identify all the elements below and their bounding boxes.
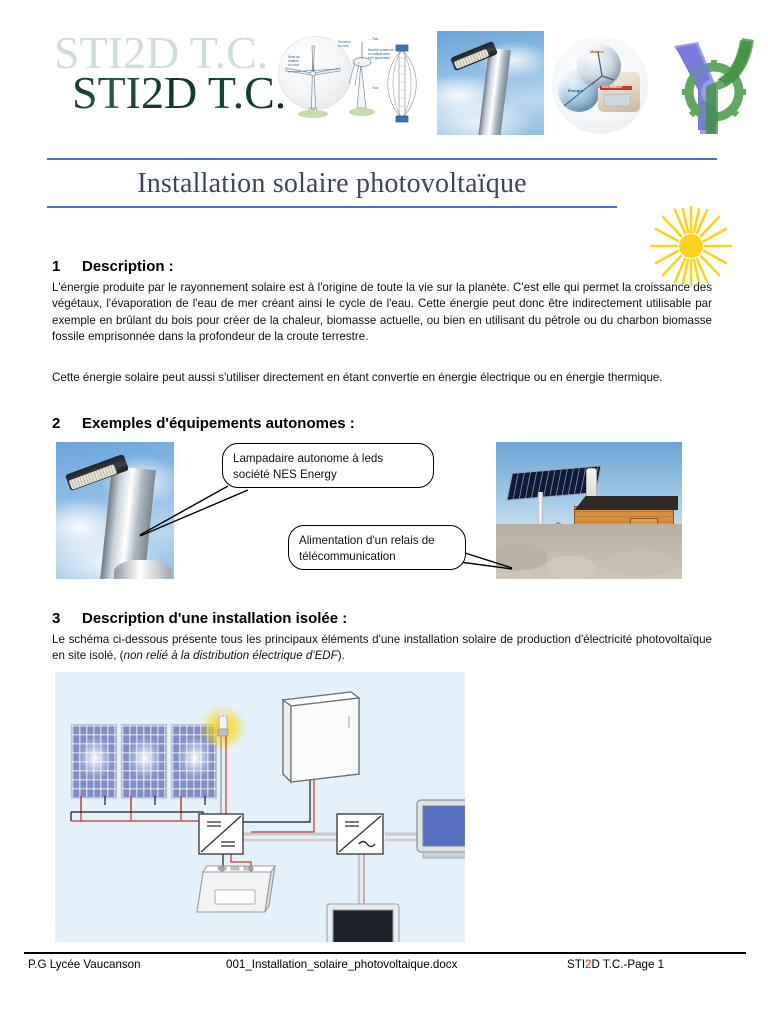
footer-author: P.G Lycée Vaucanson <box>28 958 141 971</box>
section-3-text-tail: ). <box>338 649 345 662</box>
document-page: STI2D T.C. STI2D T.C. <box>0 0 768 1024</box>
television <box>417 800 465 858</box>
turbine-label-direction-vent: Direction du vent <box>338 40 351 48</box>
turbine-label-tour: ← Tour <box>368 86 378 90</box>
section-3-text-italic: non relié à la distribution électrique d… <box>124 649 338 662</box>
solar-cabin-photo <box>496 442 682 579</box>
relais-callout: Alimentation d'un relais de télécommunic… <box>288 525 466 570</box>
streetlamp-photo <box>56 442 174 579</box>
section-1-number: 1 <box>52 258 82 275</box>
dc-ac-inverter <box>337 814 383 854</box>
lamp-glow <box>200 705 246 751</box>
heading-section-3: 3Description d'une installation isolée : <box>52 610 347 627</box>
footer-divider <box>24 952 746 954</box>
footer-prefix: STI <box>567 958 585 971</box>
heading-section-2: 2Exemples d'équipements autonomes : <box>52 415 355 432</box>
page-title: Installation solaire photovoltaïque <box>47 160 617 206</box>
section-3-title: Description d'une installation isolée : <box>82 610 347 627</box>
footer-suffix: D T.C.-Page 1 <box>592 958 665 971</box>
turbine-label-nacelle: Nacelle contenant le multiplicateur et l… <box>368 48 394 60</box>
section-1-paragraph-2: Cette énergie solaire peut aussi s'utili… <box>52 370 712 386</box>
sun-icon <box>645 203 737 289</box>
installation-schema <box>55 672 465 942</box>
lamp-pole-collar <box>114 560 172 579</box>
turbine-label-sens-rotation: Sens de rotation du rotor <box>288 55 300 67</box>
section-2-number: 2 <box>52 415 82 432</box>
heading-section-1: 1Description : <box>52 258 174 275</box>
sphere-label-matiere: Matière <box>590 49 604 54</box>
lampadaire-callout: Lampadaire autonome à leds société NES E… <box>222 443 434 488</box>
wind-turbine-icons-group: Sens de rotation du rotor Direction du v… <box>276 28 428 138</box>
rocky-ground <box>496 524 682 579</box>
section-1-paragraph-1: L'énergie produite par le rayonnement so… <box>52 280 712 346</box>
section-1-title: Description : <box>82 258 174 275</box>
title-rule-bottom <box>47 206 617 208</box>
footer-page-info: STI2D T.C.-Page 1 <box>567 958 664 971</box>
computer <box>317 904 413 942</box>
header-streetlamp-photo-icon <box>437 31 544 135</box>
y-gear-logo-icon <box>668 30 758 138</box>
cabin-roof <box>568 496 678 510</box>
sphere-label-energie: Énergie <box>568 88 583 93</box>
title-block: Installation solaire photovoltaïque <box>47 158 717 208</box>
dc-dc-converter <box>199 814 243 854</box>
section-2-title: Exemples d'équipements autonomes : <box>82 415 355 432</box>
sti2d-logo: STI2D T.C. STI2D T.C. <box>50 26 290 126</box>
turbine-label-pale: ← Pale <box>368 37 378 41</box>
schema-vector-art <box>55 672 465 942</box>
logo-text-foreground: STI2D T.C. <box>72 66 286 119</box>
document-header-banner: STI2D T.C. STI2D T.C. <box>0 0 768 150</box>
pv-module-1 <box>71 724 117 798</box>
pv-module-2 <box>121 724 167 798</box>
y-gear-vector <box>668 30 758 138</box>
section-3-paragraph: Le schéma ci-dessous présente tous les p… <box>52 632 712 665</box>
battery <box>197 866 275 912</box>
section-3-number: 3 <box>52 610 82 627</box>
refrigerator <box>283 692 359 782</box>
sun-vector <box>645 203 737 289</box>
footer-filename: 001_Installation_solaire_photovoltaique.… <box>226 958 457 971</box>
sphere-label-information: Information <box>602 85 622 89</box>
three-spheres-energy-logo-icon: Matière Énergie Information <box>552 36 648 134</box>
